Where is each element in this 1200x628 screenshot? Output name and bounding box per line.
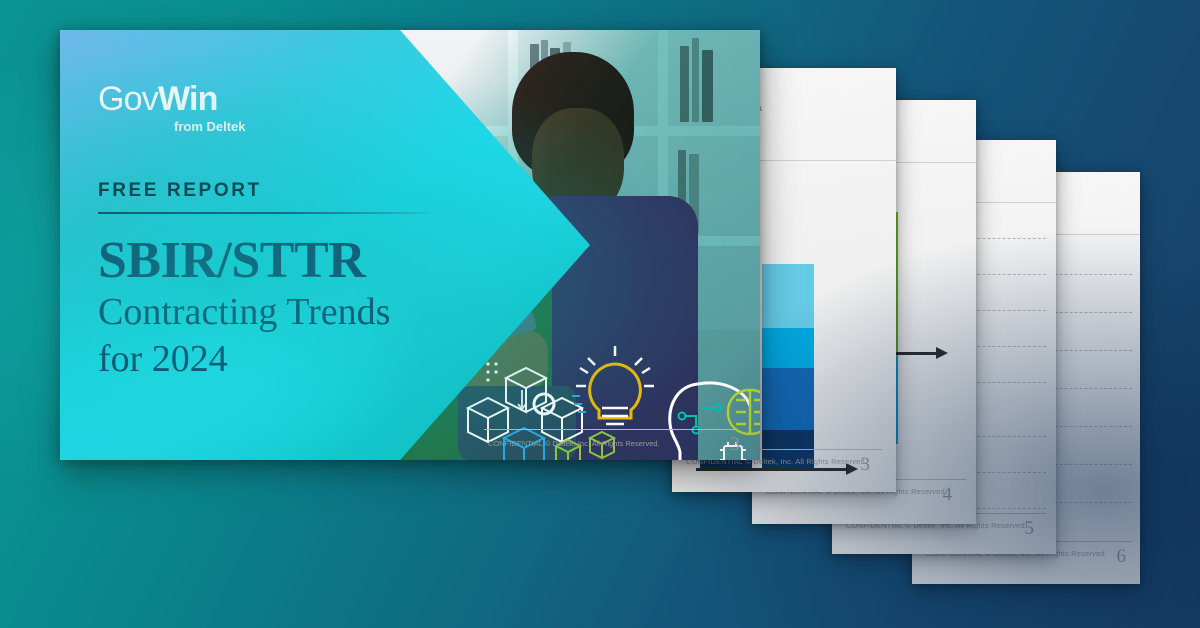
page-number-page5: 5 <box>1025 518 1035 540</box>
promo-graphic: GovWin from Deltek CONFIDENTIAL © Deltek… <box>0 0 1200 628</box>
govwin-sublogo-cover: from Deltek <box>174 119 458 134</box>
govwin-logo-cover: GovWin <box>98 82 458 116</box>
cover-page-number: 3 <box>731 434 741 456</box>
axis-arrow-page3 <box>696 468 848 471</box>
cover-footer-text: CONFIDENTIAL © Deltek, Inc. All Rights R… <box>488 439 660 448</box>
bar-b-seg-other <box>762 264 814 328</box>
page-subtitle-line2: for 2024 <box>98 338 458 381</box>
page-number-page6: 6 <box>1117 546 1127 568</box>
cover-text-block: GovWin from Deltek FREE REPORT SBIR/STTR… <box>98 82 458 380</box>
bar-b-seg-phase2 <box>762 368 814 430</box>
page-title: SBIR/STTR <box>98 234 458 287</box>
page-subtitle-line1: Contracting Trends <box>98 291 458 334</box>
page-number-page3: 3 <box>861 454 871 476</box>
report-cover[interactable]: GovWin from Deltek FREE REPORT SBIR/STTR… <box>60 30 760 460</box>
page-number-page4: 4 <box>943 484 953 506</box>
bar-b-seg-phase3 <box>762 328 814 368</box>
cover-footer-rule <box>484 429 736 430</box>
eyebrow-free-report: FREE REPORT <box>98 180 458 202</box>
divider-rule <box>98 212 430 214</box>
